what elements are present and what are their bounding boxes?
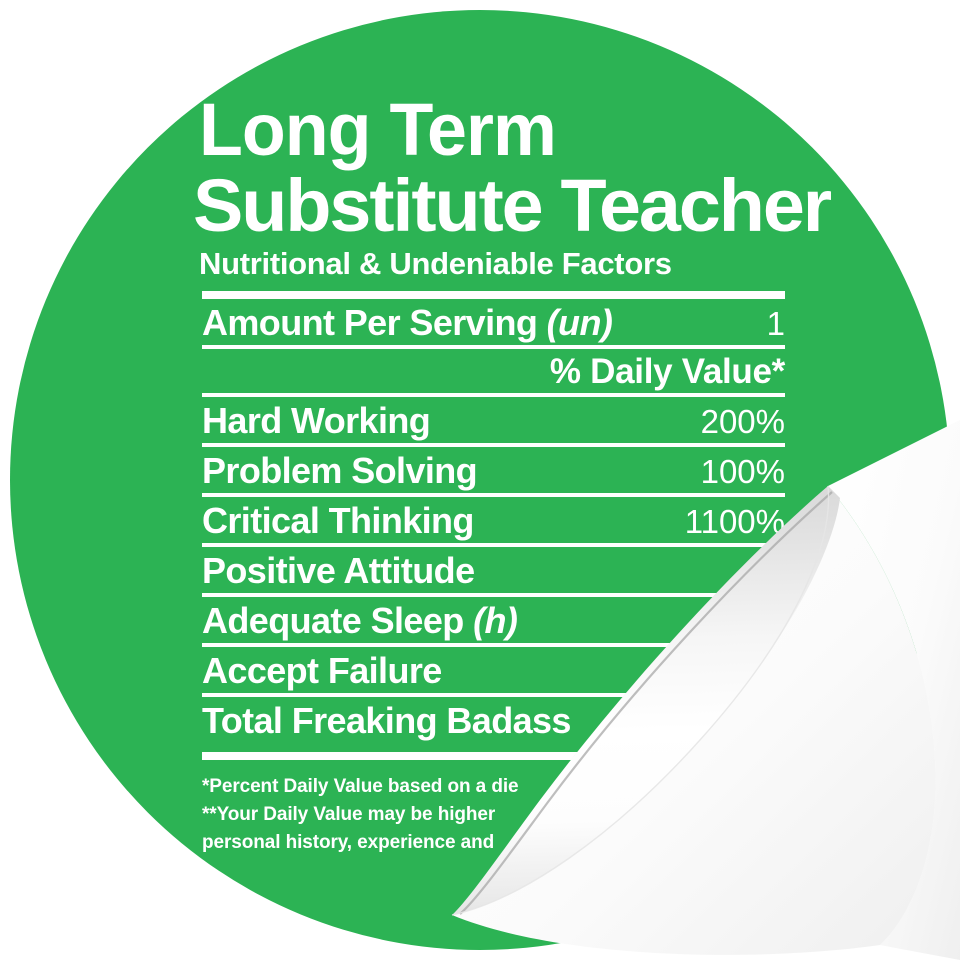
footnote-line-2: **Your Daily Value may be higher (202, 802, 785, 827)
nutrition-label: Long Term Substitute Teacher Nutritional… (193, 96, 785, 858)
divider-thick-bottom (202, 752, 785, 760)
nutrient-name: Critical Thinking (202, 500, 474, 542)
page-title-line-2: Substitute Teacher (193, 172, 797, 240)
daily-value-header-row: % Daily Value* (202, 349, 785, 393)
footnotes: *Percent Daily Value based on a die **Yo… (202, 774, 785, 855)
footnote-line-1: *Percent Daily Value based on a die (202, 774, 785, 799)
nutrient-value: 1100% (685, 503, 785, 541)
nutrient-name: Total Freaking Badass (202, 700, 571, 742)
nutrient-name: Accept Failure (202, 650, 442, 692)
daily-value-header-label: % Daily Value* (550, 352, 785, 392)
amount-per-serving-unit: (un) (547, 302, 613, 343)
table-row: Hard Working 200% (202, 397, 785, 443)
sticker-body: Long Term Substitute Teacher Nutritional… (10, 10, 950, 950)
page-subtitle: Nutritional & Undeniable Factors (199, 246, 785, 282)
footnote-line-3: personal history, experience and (202, 830, 785, 855)
amount-per-serving-value: 1 (767, 305, 785, 343)
divider-thick-top (202, 291, 785, 299)
nutrient-unit: (h) (473, 600, 517, 641)
amount-per-serving-row: Amount Per Serving (un) 1 (202, 299, 785, 345)
table-row: Adequate Sleep (h) (202, 597, 785, 643)
table-row: Critical Thinking 1100% (202, 497, 785, 543)
table-row: Total Freaking Badass (202, 697, 785, 743)
nutrient-value: 200% (701, 403, 785, 441)
nutrient-name: Positive Attitude (202, 550, 475, 592)
nutrient-value: 100% (701, 453, 785, 491)
table-row: Positive Attitude (202, 547, 785, 593)
nutrient-name: Hard Working (202, 400, 430, 442)
sticker-canvas: Long Term Substitute Teacher Nutritional… (0, 0, 960, 960)
amount-per-serving-label: Amount Per Serving (un) (202, 302, 612, 344)
nutrient-name: Adequate Sleep (h) (202, 600, 517, 642)
table-row: Accept Failure (202, 647, 785, 693)
nutrient-name: Problem Solving (202, 450, 477, 492)
page-title-line-1: Long Term (199, 96, 767, 164)
table-row: Problem Solving 100% (202, 447, 785, 493)
